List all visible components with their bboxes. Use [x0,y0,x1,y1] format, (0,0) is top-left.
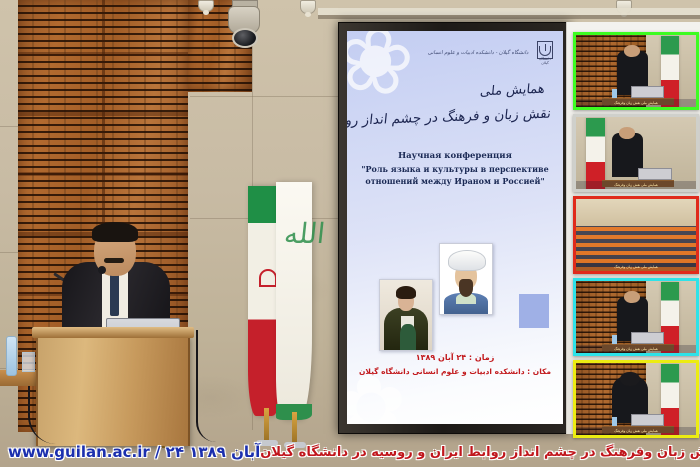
thumbnail-image: همایش ملی نقش زبان وفرهنگ [576,35,696,107]
portrait-scarf [400,324,417,350]
russian-subtitle: "Роль языка и культуры в перспективе отн… [353,164,557,187]
ceiling-rail [318,8,700,15]
thumb-hall-wall [576,199,696,226]
thumb-water-bottle [612,417,617,426]
slide-date: زمان : ۲۴ آبان ۱۳۸۹ [353,353,557,362]
projection-screen: ❀ ✿ دانشگاه گیلان - دانشکده ادبیات و علو… [347,31,563,424]
screenshot-root: ❀ ✿ دانشگاه گیلان - دانشکده ادبیات و علو… [0,0,700,467]
thumbnail-image: همایش ملی نقش زبان وفرهنگ [576,117,696,189]
water-bottle [6,336,17,376]
portrait-persian-poet [439,243,493,315]
russian-text-block: Научная конференция "Роль языка и культу… [353,151,557,187]
thumb-laptop [631,332,664,344]
drinking-glass [22,352,35,372]
wood-band [18,112,188,116]
portrait-pushkin [379,279,433,351]
thumb-laptop [631,414,664,426]
thumbnail-image: همایش ملی نقش زبان وفرهنگ [576,363,696,435]
russian-heading: Научная конференция [353,151,557,161]
thumb-laptop [631,86,664,98]
thumbnail-5[interactable]: همایش ملی نقش زبان وفرهنگ [573,360,699,438]
thumb-water-bottle [612,335,617,344]
logo-stem [545,44,546,51]
microphone-head-icon [98,266,106,274]
speaker-hair [92,222,138,242]
thumbnail-4[interactable]: همایش ملی نقش زبان وفرهنگ [573,278,699,356]
wood-band [18,52,188,56]
projection-screen-frame: ❀ ✿ دانشگاه گیلان - دانشکده ادبیات و علو… [338,22,570,434]
thumb-speaker-head [620,372,639,386]
logo-caption: دانشگاه گیلان [535,57,555,65]
flag-calligraphy: الله [274,220,314,330]
slide-footer: زمان : ۲۴ آبان ۱۳۸۹ مکان : دانشکده ادبیا… [353,353,557,376]
thumbnail-strip: همایش ملی نقش زبان وفرهنگ همایش ملی نقش … [566,22,700,434]
thumb-speaker-head [624,45,640,57]
caption-title: همایش ملی نقش زبان وفرهنگ در چشم انداز ر… [260,445,700,460]
thumbnail-2[interactable]: همایش ملی نقش زبان وفرهنگ [573,114,699,192]
thumb-speaker-head [619,127,635,139]
security-camera-dome-icon [232,28,258,48]
speaker-tie [110,272,119,316]
podium-top-edge [32,327,194,338]
slide-title-line2: نقش زبان و فرهنگ در چشم انداز روابط ایرا… [356,106,552,129]
speaker-moustache [104,258,124,263]
thumb-caption: همایش ملی نقش زبان وفرهنگ [576,345,696,353]
thumb-caption: همایش ملی نقش زبان وفرهنگ [576,181,696,189]
caption-url-date[interactable]: www.guilan.ac.ir / ۲۴ آبان ۱۳۸۹ [8,443,260,461]
slide-title-line1: همایش ملی [480,82,546,100]
thumbnail-image: همایش ملی نقش زبان وفرهنگ [576,281,696,353]
podium [36,336,190,446]
thumbnail-1[interactable]: همایش ملی نقش زبان وفرهنگ [573,32,699,110]
slide-blue-square [519,294,549,328]
thumb-caption: همایش ملی نقش زبان وفرهنگ [576,427,696,435]
wood-band [18,172,188,176]
portrait-turban [448,250,485,272]
slide-header-text: دانشگاه گیلان - دانشکده ادبیات و علوم ان… [428,50,530,56]
thumbnail-3[interactable]: همایش ملی نقش زبان وفرهنگ [573,196,699,274]
slide-venue: مکان : دانشکده ادبیات و علوم انسانی دانش… [353,367,557,376]
thumb-caption: همایش ملی نقش زبان وفرهنگ [576,263,696,271]
thumb-water-bottle [612,89,617,98]
caption-bar: www.guilan.ac.ir / ۲۴ آبان ۱۳۸۹ همایش مل… [0,437,700,467]
thumbnail-image: همایش ملی نقش زبان وفرهنگ [576,199,696,271]
thumb-caption: همایش ملی نقش زبان وفرهنگ [576,99,696,107]
slide-header: دانشگاه گیلان - دانشکده ادبیات و علوم ان… [347,41,563,65]
ceiling-lamp [198,0,214,12]
thumb-iran-flag [586,118,605,189]
iran-emblem-icon [259,269,277,287]
thumb-laptop [638,168,671,180]
floor-cable [196,330,216,442]
ceiling-shadow [318,15,700,19]
stone-joint [190,96,350,97]
university-logo-icon: دانشگاه گیلان [535,41,555,65]
ceiling-lamp [300,0,316,14]
thumb-speaker-head [624,291,640,303]
white-green-flag: الله [276,182,312,420]
portrait-hair [396,286,416,299]
